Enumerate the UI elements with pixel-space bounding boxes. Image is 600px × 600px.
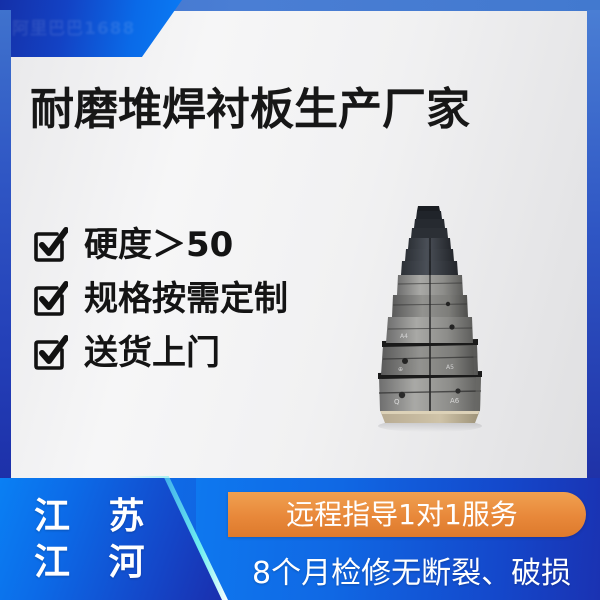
banner-watermark-text: 阿里巴巴1688 [12, 14, 135, 39]
checkbox-checked-icon [32, 335, 68, 371]
bottom-tagline: 8个月检修无断裂、破损 [252, 548, 592, 592]
svg-text:A5: A5 [446, 364, 454, 371]
feature-label: 硬度＞50 [84, 228, 233, 262]
brand-name: 江 苏 江 河 [34, 494, 158, 586]
checkbox-checked-icon [32, 281, 68, 317]
service-pill-label: 远程指导1对1服务 [228, 492, 586, 537]
list-item: 硬度＞50 [32, 220, 288, 270]
stacked-wear-plates-image: Q A6 ⊕ A5 A4 [372, 205, 492, 435]
checkbox-checked-icon [32, 227, 68, 263]
feature-label: 规格按需定制 [84, 282, 288, 316]
service-pill: 远程指导1对1服务 [228, 492, 586, 537]
poster-canvas: 阿里巴巴1688 耐磨堆焊衬板生产厂家 硬度＞50 规格按需定制 [0, 0, 600, 600]
svg-text:A6: A6 [450, 397, 460, 405]
svg-text:⊕: ⊕ [398, 366, 403, 373]
left-accent-strip [0, 10, 11, 490]
svg-text:Q: Q [394, 398, 400, 406]
page-title: 耐磨堆焊衬板生产厂家 [30, 86, 470, 134]
brand-line-1: 江 苏 [34, 494, 158, 540]
right-accent-strip [587, 10, 600, 500]
feature-label: 送货上门 [84, 336, 220, 370]
list-item: 规格按需定制 [32, 274, 288, 324]
feature-list: 硬度＞50 规格按需定制 送货上门 [32, 220, 288, 382]
svg-text:A4: A4 [400, 333, 408, 340]
brand-line-2: 江 河 [34, 540, 158, 586]
list-item: 送货上门 [32, 328, 288, 378]
